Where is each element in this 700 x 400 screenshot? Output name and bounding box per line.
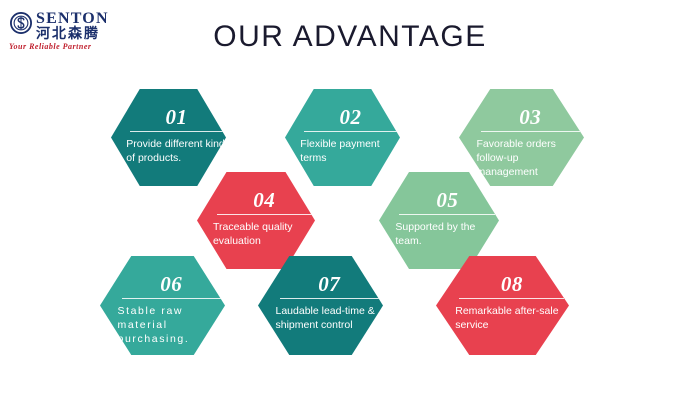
hexagon-divider: [481, 131, 581, 132]
advantage-hexagon-01[interactable]: 01Provide different kinds of products.: [111, 89, 226, 186]
hexagon-number: 07: [286, 274, 374, 298]
hexagon-divider: [399, 214, 495, 215]
hexagon-content: 05Supported by the team.: [405, 190, 489, 248]
hexagon-content: 08Remarkable after-sale service: [465, 274, 558, 332]
hexagon-content: 01Provide different kinds of products.: [136, 107, 217, 165]
hexagon-number: 08: [465, 274, 558, 298]
page-title: OUR ADVANTAGE: [0, 20, 700, 54]
hexagon-number: 01: [136, 107, 217, 131]
advantage-hexagon-07[interactable]: 07Laudable lead-time & shipment control: [258, 256, 383, 355]
hexagon-content: 06Stable raw material purchasing.: [128, 274, 216, 346]
hexagon-number: 05: [405, 190, 489, 214]
hexagon-description: Favorable orders follow-up management: [477, 137, 583, 179]
hexagon-description: Supported by the team.: [395, 220, 501, 248]
advantage-hexagon-02[interactable]: 02Flexible payment terms: [285, 89, 400, 186]
hexagon-number: 02: [310, 107, 391, 131]
hexagon-content: 02Flexible payment terms: [310, 107, 391, 165]
hexagon-divider: [280, 298, 380, 299]
advantage-hexagon-03[interactable]: 03Favorable orders follow-up management: [459, 89, 584, 186]
hexagon-divider: [130, 131, 223, 132]
hexagon-divider: [459, 298, 564, 299]
hexagon-number: 03: [487, 107, 575, 131]
hexagon-divider: [122, 298, 222, 299]
hexagon-number: 04: [223, 190, 306, 214]
advantage-hexagon-04[interactable]: 04Traceable quality evaluation: [197, 172, 315, 269]
hexagon-divider: [304, 131, 397, 132]
hexagon-description: Stable raw material purchasing.: [118, 304, 224, 346]
advantage-hexagon-05[interactable]: 05Supported by the team.: [379, 172, 499, 269]
hexagon-content: 07Laudable lead-time & shipment control: [286, 274, 374, 332]
hexagon-content: 04Traceable quality evaluation: [223, 190, 306, 248]
hexagon-description: Traceable quality evaluation: [213, 220, 319, 248]
hexagon-description: Remarkable after-sale service: [455, 304, 561, 332]
hexagon-content: 03Favorable orders follow-up management: [487, 107, 575, 179]
hexagon-description: Laudable lead-time & shipment control: [276, 304, 382, 332]
hexagon-divider: [217, 214, 312, 215]
hexagon-description: Flexible payment terms: [300, 137, 406, 165]
advantage-hexagon-06[interactable]: 06Stable raw material purchasing.: [100, 256, 225, 355]
hexagon-description: Provide different kinds of products.: [126, 137, 232, 165]
hexagon-number: 06: [128, 274, 216, 298]
advantage-hexagon-08[interactable]: 08Remarkable after-sale service: [436, 256, 569, 355]
